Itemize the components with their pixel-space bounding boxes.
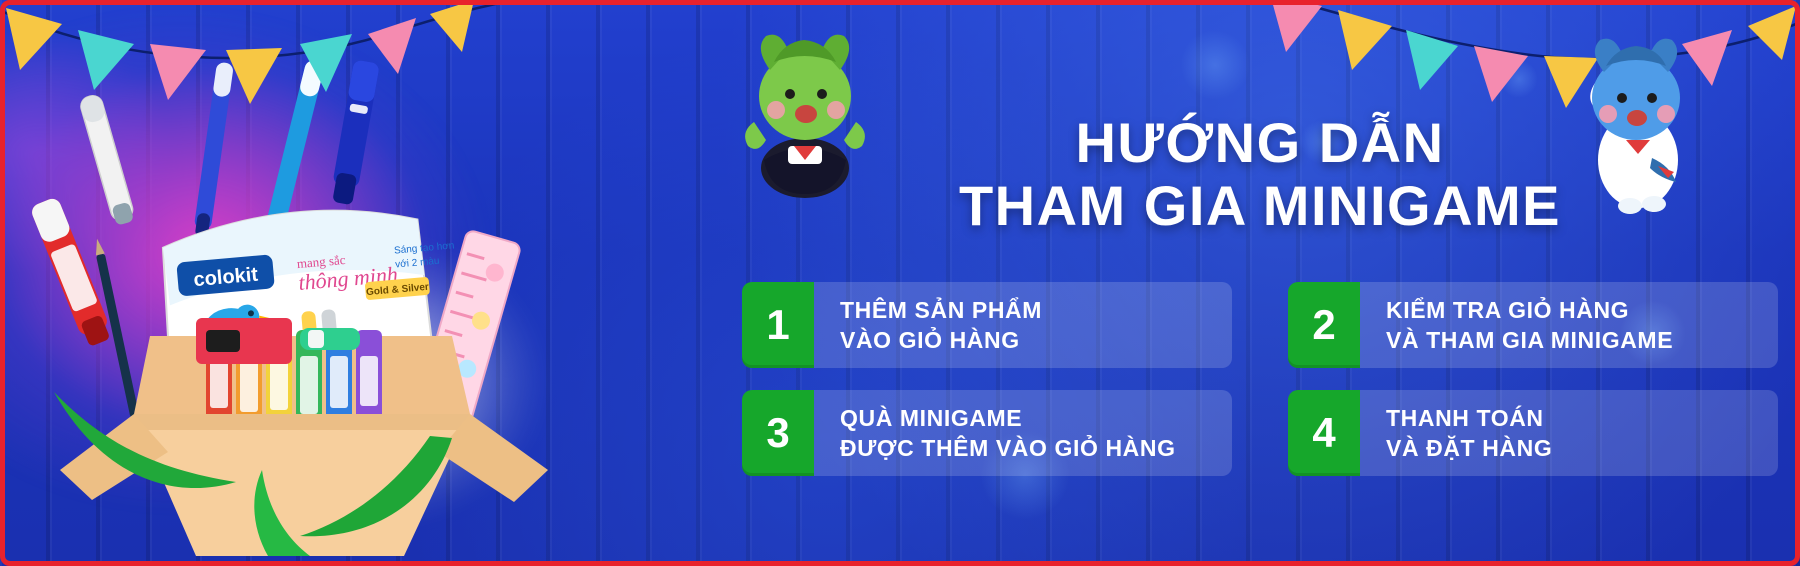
step-item-2: 2 KIỂM TRA GIỎ HÀNG VÀ THAM GIA MINIGAME: [1288, 282, 1778, 368]
step-4-line-2: VÀ ĐẶT HÀNG: [1386, 433, 1778, 463]
step-text-2: KIỂM TRA GIỎ HÀNG VÀ THAM GIA MINIGAME: [1360, 282, 1778, 368]
step-2-line-2: VÀ THAM GIA MINIGAME: [1386, 325, 1778, 355]
step-text-1: THÊM SẢN PHẨM VÀO GIỎ HÀNG: [814, 282, 1232, 368]
banner-content: HƯỚNG DẪN THAM GIA MINIGAME 1 THÊM SẢN P…: [720, 0, 1800, 566]
step-2-line-1: KIỂM TRA GIỎ HÀNG: [1386, 295, 1778, 325]
step-1-line-2: VÀO GIỎ HÀNG: [840, 325, 1232, 355]
step-4-line-1: THANH TOÁN: [1386, 403, 1778, 433]
step-item-3: 3 QUÀ MINIGAME ĐƯỢC THÊM VÀO GIỎ HÀNG: [742, 390, 1232, 476]
step-3-line-1: QUÀ MINIGAME: [840, 403, 1232, 433]
step-number-2: 2: [1288, 282, 1360, 368]
step-1-line-1: THÊM SẢN PHẨM: [840, 295, 1232, 325]
green-dragon-mascot: [730, 18, 880, 203]
step-item-4: 4 THANH TOÁN VÀ ĐẶT HÀNG: [1288, 390, 1778, 476]
step-3-line-2: ĐƯỢC THÊM VÀO GIỎ HÀNG: [840, 433, 1232, 463]
step-text-4: THANH TOÁN VÀ ĐẶT HÀNG: [1360, 390, 1778, 476]
step-item-1: 1 THÊM SẢN PHẨM VÀO GIỎ HÀNG: [742, 282, 1232, 368]
step-number-1: 1: [742, 282, 814, 368]
blue-dragon-mascot: [1560, 28, 1710, 218]
step-number-4: 4: [1288, 390, 1360, 476]
step-text-3: QUÀ MINIGAME ĐƯỢC THÊM VÀO GIỎ HÀNG: [814, 390, 1232, 476]
step-number-3: 3: [742, 390, 814, 476]
steps-grid: 1 THÊM SẢN PHẨM VÀO GIỎ HÀNG 2 KIỂM TRA …: [742, 282, 1778, 476]
promo-banner: colokit mang sắc thông minh Sáng tạo hơn…: [0, 0, 1800, 566]
